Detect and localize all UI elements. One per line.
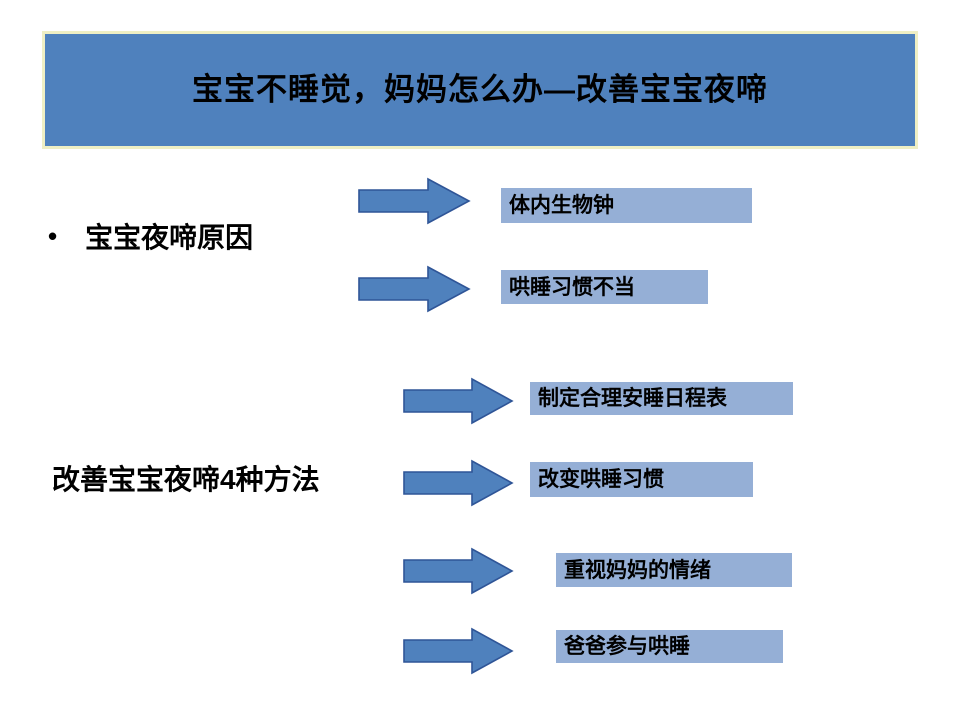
label-box-method-3: 重视妈妈的情绪: [556, 553, 792, 587]
label-box-method-4-text: 爸爸参与哄睡: [556, 636, 690, 657]
right-arrow-icon: [358, 178, 470, 224]
section-heading-methods-label: 改善宝宝夜啼4种方法: [52, 464, 320, 495]
label-box-method-2: 改变哄睡习惯: [530, 462, 753, 497]
section-heading-causes: • 宝宝夜啼原因: [48, 216, 253, 256]
label-box-method-1-text: 制定合理安睡日程表: [530, 388, 727, 409]
right-arrow-icon: [358, 266, 470, 312]
label-box-cause-2: 哄睡习惯不当: [501, 270, 708, 304]
page-title: 宝宝不睡觉，妈妈怎么办—改善宝宝夜啼: [192, 71, 768, 108]
right-arrow-icon: [403, 378, 513, 424]
right-arrow-icon: [403, 628, 513, 674]
right-arrow-icon: [403, 460, 513, 506]
label-box-method-4: 爸爸参与哄睡: [556, 630, 783, 663]
label-box-cause-2-text: 哄睡习惯不当: [501, 277, 635, 298]
label-box-method-3-text: 重视妈妈的情绪: [556, 560, 711, 581]
slide-title-banner: 宝宝不睡觉，妈妈怎么办—改善宝宝夜啼: [42, 31, 918, 149]
label-box-cause-1-text: 体内生物钟: [501, 195, 614, 216]
bullet-marker: •: [48, 223, 57, 249]
label-box-method-2-text: 改变哄睡习惯: [530, 469, 664, 490]
slide-canvas: 宝宝不睡觉，妈妈怎么办—改善宝宝夜啼 • 宝宝夜啼原因 体内生物钟 哄睡习惯不当…: [0, 0, 960, 720]
section-heading-causes-label: 宝宝夜啼原因: [85, 216, 253, 256]
label-box-cause-1: 体内生物钟: [501, 188, 752, 223]
label-box-method-1: 制定合理安睡日程表: [530, 382, 793, 415]
right-arrow-icon: [403, 548, 513, 594]
section-heading-methods: 改善宝宝夜啼4种方法: [52, 458, 320, 498]
